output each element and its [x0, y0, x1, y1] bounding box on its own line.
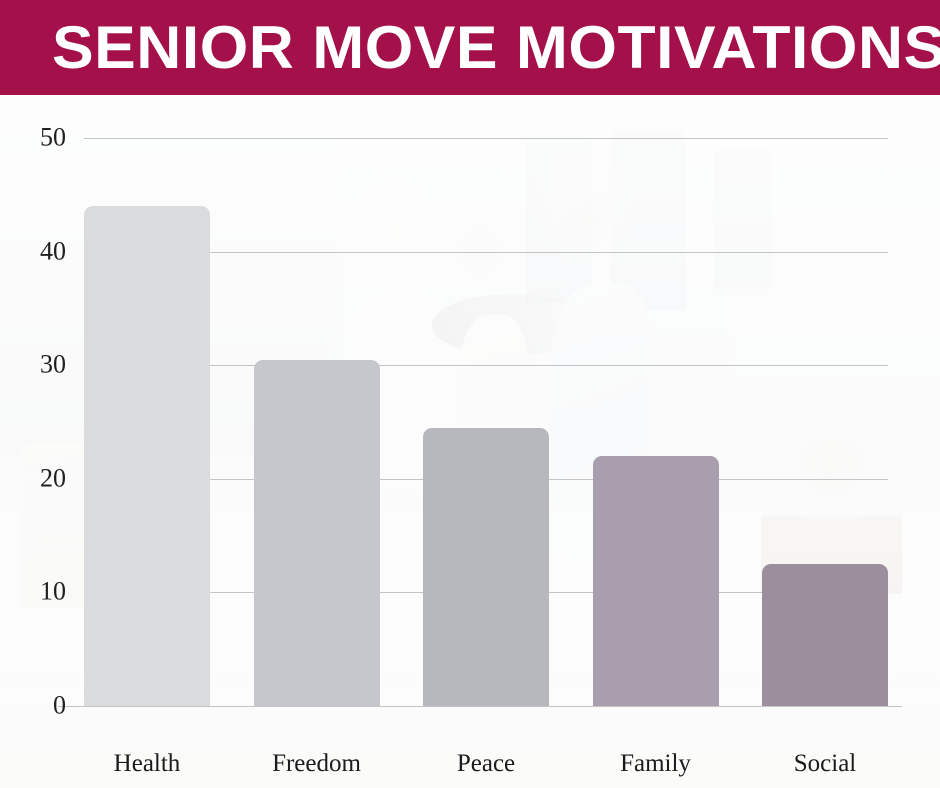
y-axis-tick-label: 20 — [40, 463, 66, 493]
x-axis-category-labels: HealthFreedomPeaceFamilySocial — [84, 750, 888, 778]
y-axis-tick-label: 30 — [40, 350, 66, 380]
x-axis-label-freedom: Freedom — [254, 750, 380, 778]
y-axis-tick-label: 40 — [40, 236, 66, 266]
x-axis-label-peace: Peace — [423, 750, 549, 778]
bar-slot — [423, 138, 549, 706]
bar-peace[interactable] — [423, 428, 549, 706]
page-title: SENIOR MOVE MOTIVATIONS — [52, 18, 940, 78]
bar-slot — [254, 138, 380, 706]
bar-freedom[interactable] — [254, 360, 380, 706]
y-axis-tick-label: 50 — [40, 122, 66, 152]
bar-health[interactable] — [84, 206, 210, 706]
bar-social[interactable] — [762, 564, 888, 706]
bar-slot — [84, 138, 210, 706]
bar-family[interactable] — [593, 456, 719, 706]
bar-slot — [762, 138, 888, 706]
x-axis-label-family: Family — [593, 750, 719, 778]
plot-area: 01020304050 — [84, 138, 888, 706]
chart-canvas: 01020304050 HealthFreedomPeaceFamilySoci… — [0, 95, 940, 788]
y-axis-tick-label: 10 — [40, 577, 66, 607]
chart-header-banner: SENIOR MOVE MOTIVATIONS — [0, 0, 940, 95]
x-axis-label-health: Health — [84, 750, 210, 778]
axis-baseline — [58, 706, 902, 707]
y-axis-tick-label: 0 — [53, 690, 66, 720]
bars-group — [84, 138, 888, 706]
x-axis-label-social: Social — [762, 750, 888, 778]
bar-slot — [593, 138, 719, 706]
